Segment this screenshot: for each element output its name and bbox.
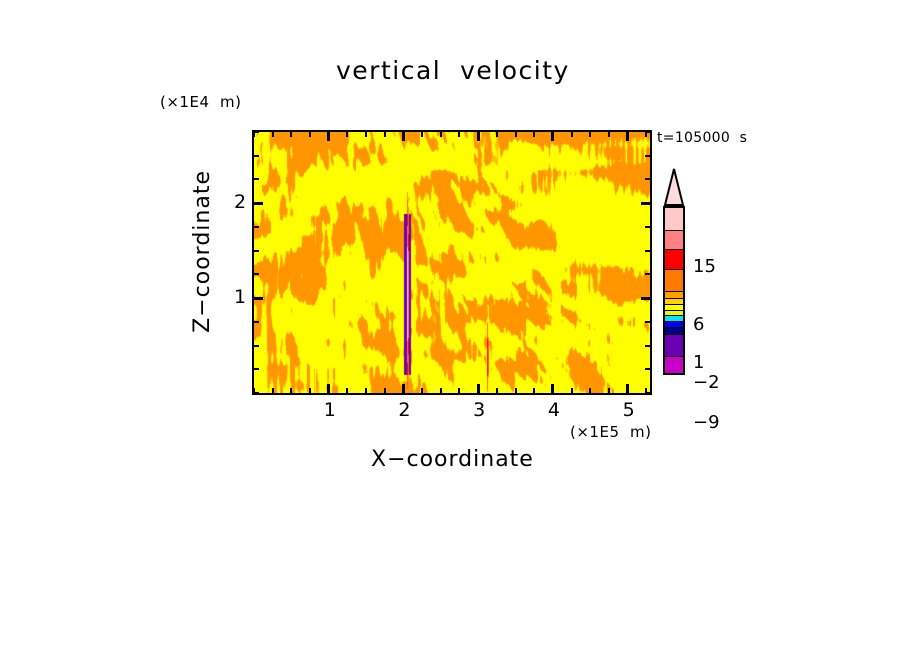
tick-mark: [254, 368, 259, 370]
tick-mark: [272, 132, 274, 137]
tick-mark: [641, 202, 650, 205]
colorbar-tick-label: −2: [693, 372, 720, 393]
colorbar-band: [665, 356, 683, 374]
tick-mark: [477, 384, 480, 393]
colorbar: 1561−2−9: [663, 168, 685, 375]
tick-mark: [309, 388, 311, 393]
x-axis-units-label: (×1E5 m): [570, 423, 652, 441]
tick-mark: [515, 388, 517, 393]
tick-mark: [645, 178, 650, 180]
tick-mark: [589, 132, 591, 137]
x-tick-label: 4: [548, 399, 560, 421]
tick-mark: [254, 345, 259, 347]
tick-mark: [551, 384, 554, 393]
tick-mark: [440, 132, 442, 137]
tick-mark: [327, 384, 330, 393]
tick-mark: [458, 388, 460, 393]
tick-mark: [571, 132, 573, 137]
colorbar-tick-label: 6: [693, 314, 704, 335]
tick-mark: [272, 388, 274, 393]
tick-mark: [458, 132, 460, 137]
triangle-icon: [663, 168, 685, 206]
colorbar-band: [665, 208, 683, 230]
colorbar-band: [665, 249, 683, 269]
tick-mark: [589, 388, 591, 393]
tick-mark: [421, 388, 423, 393]
contour-plot-area: [252, 130, 652, 395]
tick-mark: [309, 132, 311, 137]
tick-mark: [440, 388, 442, 393]
time-annotation: t=105000 s: [657, 130, 747, 146]
tick-mark: [421, 132, 423, 137]
tick-mark: [608, 132, 610, 137]
tick-mark: [254, 226, 259, 228]
tick-mark: [365, 132, 367, 137]
tick-mark: [533, 132, 535, 137]
tick-mark: [645, 155, 650, 157]
tick-mark: [254, 250, 259, 252]
tick-mark: [346, 132, 348, 137]
x-tick-label: 5: [623, 399, 635, 421]
tick-mark: [254, 131, 259, 133]
tick-mark: [384, 388, 386, 393]
tick-mark: [608, 388, 610, 393]
tick-mark: [254, 392, 259, 394]
x-tick-label: 3: [473, 399, 485, 421]
tick-mark: [571, 388, 573, 393]
x-tick-label: 2: [398, 399, 410, 421]
tick-mark: [645, 345, 650, 347]
tick-mark: [645, 273, 650, 275]
tick-mark: [384, 132, 386, 137]
colorbar-tick-label: −9: [693, 412, 720, 433]
colorbar-band: [665, 291, 683, 298]
y-axis-units-label: (×1E4 m): [160, 93, 242, 111]
y-axis-title: Z−coordinate: [190, 170, 215, 333]
tick-mark: [254, 178, 259, 180]
colorbar-band: [665, 334, 683, 356]
colorbar-extend-arrow: [663, 168, 685, 206]
tick-mark: [402, 132, 405, 141]
tick-mark: [533, 388, 535, 393]
tick-mark: [402, 384, 405, 393]
tick-mark: [346, 388, 348, 393]
colorbar-band: [665, 269, 683, 291]
tick-mark: [645, 321, 650, 323]
tick-mark: [645, 392, 650, 394]
tick-mark: [496, 132, 498, 137]
y-tick-label: 1: [234, 286, 246, 308]
colorbar-tick-label: 15: [693, 256, 716, 277]
vertical-velocity-field: [254, 132, 650, 393]
tick-mark: [626, 384, 629, 393]
tick-mark: [254, 321, 259, 323]
x-axis-title: X−coordinate: [371, 447, 534, 472]
colorbar-band: [665, 374, 683, 375]
figure-canvas: vertical velocity (×1E4 m) t=105000 s Z−…: [0, 0, 904, 654]
y-tick-label: 2: [234, 191, 246, 213]
colorbar-band: [665, 327, 683, 334]
tick-mark: [290, 132, 292, 137]
page-title: vertical velocity: [336, 56, 570, 85]
tick-mark: [645, 131, 650, 133]
tick-mark: [515, 132, 517, 137]
tick-mark: [254, 202, 263, 205]
tick-mark: [645, 226, 650, 228]
tick-mark: [254, 155, 259, 157]
colorbar-bands: [663, 206, 685, 375]
tick-mark: [645, 250, 650, 252]
colorbar-band: [665, 230, 683, 249]
tick-mark: [496, 388, 498, 393]
tick-mark: [641, 297, 650, 300]
colorbar-tick-label: 1: [693, 352, 704, 373]
tick-mark: [551, 132, 554, 141]
tick-mark: [254, 297, 263, 300]
tick-mark: [626, 132, 629, 141]
tick-mark: [645, 368, 650, 370]
x-tick-label: 1: [324, 399, 336, 421]
tick-mark: [365, 388, 367, 393]
tick-mark: [254, 273, 259, 275]
tick-mark: [477, 132, 480, 141]
tick-mark: [290, 388, 292, 393]
tick-mark: [327, 132, 330, 141]
